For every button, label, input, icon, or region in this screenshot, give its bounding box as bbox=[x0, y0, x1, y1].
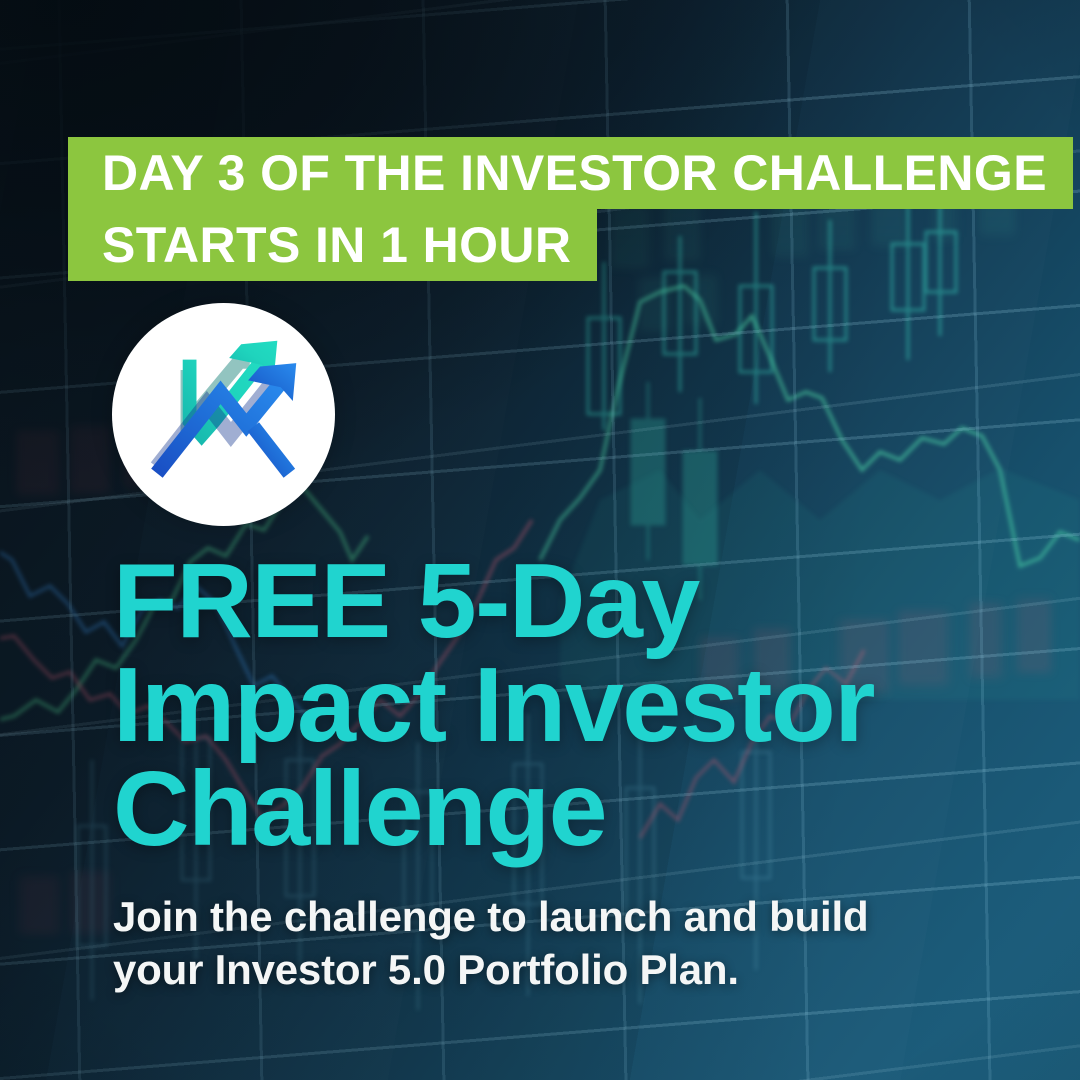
headline-line-3: Challenge bbox=[113, 757, 874, 861]
subtitle: Join the challenge to launch and build y… bbox=[113, 890, 868, 996]
logo-circle bbox=[112, 303, 335, 526]
impact-investor-logo-icon bbox=[138, 327, 310, 499]
banner-line-1: DAY 3 OF THE INVESTOR CHALLENGE bbox=[68, 137, 1073, 209]
announcement-banner: DAY 3 OF THE INVESTOR CHALLENGE STARTS I… bbox=[68, 137, 1058, 281]
headline-line-2: Impact Investor bbox=[113, 653, 874, 757]
page-title: FREE 5-Day Impact Investor Challenge bbox=[113, 549, 874, 861]
banner-line-2: STARTS IN 1 HOUR bbox=[68, 209, 597, 281]
subtitle-line-1: Join the challenge to launch and build bbox=[113, 890, 868, 943]
headline-line-1: FREE 5-Day bbox=[113, 549, 874, 653]
subtitle-line-2: your Investor 5.0 Portfolio Plan. bbox=[113, 943, 868, 996]
promo-graphic: DAY 3 OF THE INVESTOR CHALLENGE STARTS I… bbox=[0, 0, 1080, 1080]
